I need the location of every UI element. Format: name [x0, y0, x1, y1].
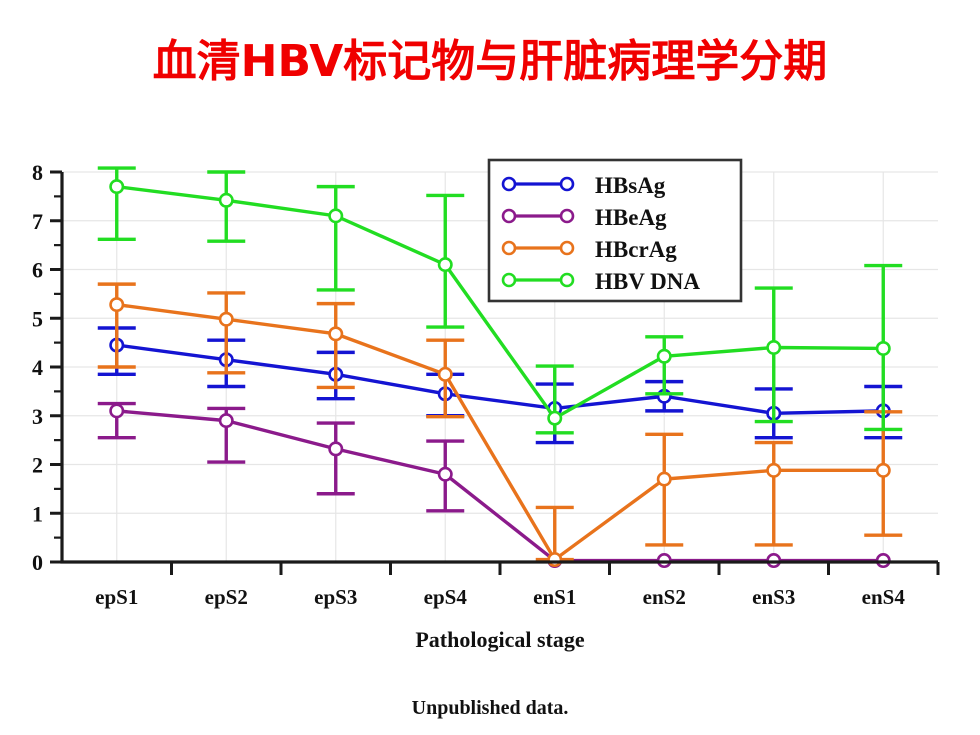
x-axis-tick-label: enS4: [862, 585, 906, 609]
y-axis-tick-label: 0: [32, 550, 43, 575]
data-point-marker: [877, 464, 889, 476]
legend-label: HBV DNA: [595, 269, 700, 294]
figure-caption: Unpublished data.: [0, 697, 980, 720]
data-point-marker: [549, 553, 561, 565]
legend-swatch-marker: [503, 210, 515, 222]
x-axis-tick-label: epS3: [314, 585, 357, 609]
series-hbsag: [98, 328, 903, 443]
data-point-marker: [111, 180, 123, 192]
y-axis-tick-label: 5: [32, 306, 43, 331]
legend-swatch-marker: [503, 242, 515, 254]
data-point-marker: [220, 313, 232, 325]
data-point-marker: [768, 464, 780, 476]
x-axis-tick-label: epS1: [95, 585, 138, 609]
data-point-marker: [768, 341, 780, 353]
data-point-marker: [330, 210, 342, 222]
data-point-marker: [658, 350, 670, 362]
y-axis-tick-label: 1: [32, 501, 43, 526]
data-point-marker: [549, 412, 561, 424]
legend-swatch-marker: [561, 242, 573, 254]
x-axis-tick-label: enS1: [533, 585, 576, 609]
chart-canvas: 012345678epS1epS2epS3epS4enS1enS2enS3enS…: [0, 140, 980, 660]
chart-legend[interactable]: HBsAgHBeAgHBcrAgHBV DNA: [489, 160, 741, 301]
data-point-marker: [220, 194, 232, 206]
data-point-marker: [220, 414, 232, 426]
page-title: 血清HBV标记物与肝脏病理学分期: [0, 36, 980, 88]
data-point-marker: [111, 298, 123, 310]
legend-label: HBcrAg: [595, 237, 677, 262]
series-line: [117, 411, 884, 561]
x-axis-title: Pathological stage: [415, 627, 584, 652]
y-axis-tick-label: 7: [32, 209, 43, 234]
legend-swatch-marker: [503, 274, 515, 286]
slide-root: 血清HBV标记物与肝脏病理学分期 012345678epS1epS2epS3ep…: [0, 0, 980, 735]
data-point-marker: [658, 473, 670, 485]
legend-label: HBeAg: [595, 205, 667, 230]
series-hbeag: [98, 404, 890, 567]
x-axis-tick-label: enS3: [752, 585, 795, 609]
x-axis-tick-label: epS4: [424, 585, 468, 609]
y-axis-tick-label: 6: [32, 258, 43, 283]
y-axis-tick-label: 3: [32, 404, 43, 429]
series-hbcrag: [98, 284, 903, 566]
y-axis-tick-label: 2: [32, 453, 43, 478]
x-axis-tick-label: epS2: [205, 585, 248, 609]
y-axis-tick-label: 8: [32, 160, 43, 185]
legend-label: HBsAg: [595, 173, 666, 198]
data-point-marker: [877, 342, 889, 354]
data-point-marker: [439, 468, 451, 480]
data-point-marker: [439, 368, 451, 380]
x-axis-tick-label: enS2: [643, 585, 686, 609]
legend-swatch-marker: [561, 274, 573, 286]
data-point-marker: [330, 443, 342, 455]
y-axis-tick-label: 4: [32, 355, 43, 380]
data-point-marker: [111, 405, 123, 417]
legend-swatch-marker: [561, 210, 573, 222]
data-point-marker: [330, 328, 342, 340]
chart-figure: 012345678epS1epS2epS3epS4enS1enS2enS3enS…: [0, 140, 980, 660]
data-point-marker: [439, 258, 451, 270]
legend-swatch-marker: [561, 178, 573, 190]
legend-swatch-marker: [503, 178, 515, 190]
